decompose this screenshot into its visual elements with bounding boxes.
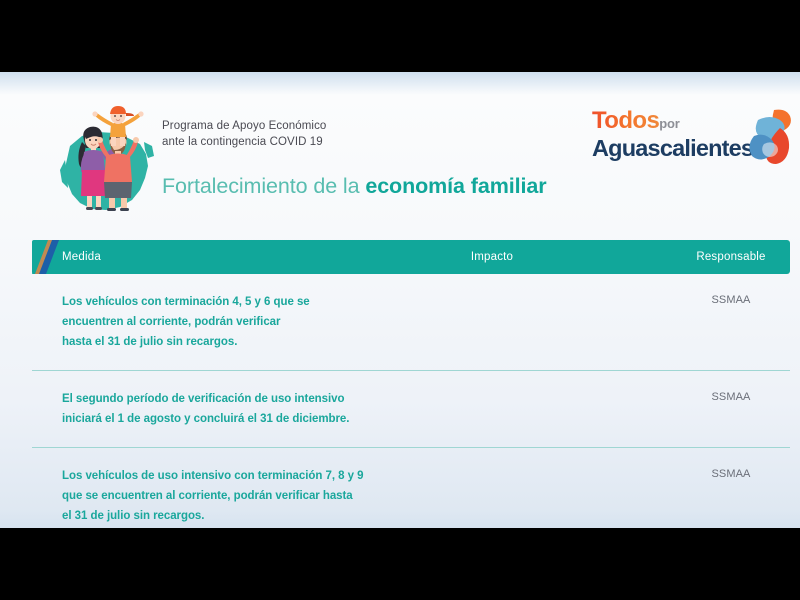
- medida-line: el 31 de julio sin recargos.: [62, 506, 424, 526]
- table-header-row: Medida Impacto Responsable: [32, 240, 790, 274]
- logo-wordmark: Todospor Aguascalientes: [592, 108, 744, 161]
- logo-word-todos: Todos: [592, 107, 659, 134]
- slide-title: Fortalecimiento de la economía familiar: [162, 172, 546, 200]
- logo-swirl-icon: [744, 106, 794, 168]
- logo-line-1: Todospor: [592, 108, 744, 136]
- slide-title-strong: economía familiar: [365, 174, 546, 198]
- cell-impacto: [424, 448, 560, 468]
- slide-title-light: Fortalecimiento de la: [162, 174, 365, 198]
- medida-line: Los vehículos con terminación 4, 5 y 6 q…: [62, 292, 424, 312]
- cell-responsable: SSMAA: [672, 448, 790, 480]
- cell-medida: Los vehículos con terminación 4, 5 y 6 q…: [32, 274, 424, 370]
- cell-responsable: SSMAA: [672, 274, 790, 306]
- presentation-slide: Programa de Apoyo Económico ante la cont…: [0, 72, 800, 528]
- logo-word-aguascalientes: Aguascalientes: [592, 136, 744, 161]
- slide-screenshot: Programa de Apoyo Económico ante la cont…: [0, 0, 800, 600]
- medida-line: iniciará el 1 de agosto y concluirá el 3…: [62, 409, 424, 429]
- column-header-medida: Medida: [62, 240, 101, 274]
- medida-line: Los vehículos de uso intensivo con termi…: [62, 466, 424, 486]
- table-row: El segundo período de verificación de us…: [32, 370, 790, 447]
- header-slash-accent-icon: [32, 240, 62, 274]
- cell-impacto: [424, 371, 560, 391]
- measures-table: Medida Impacto Responsable Los vehículos…: [32, 240, 790, 528]
- program-subtitle-line-1: Programa de Apoyo Económico: [162, 118, 582, 134]
- program-subtitle: Programa de Apoyo Económico ante la cont…: [162, 118, 582, 150]
- logo-word-por: por: [659, 116, 679, 131]
- cell-responsable: SSMAA: [672, 371, 790, 403]
- todos-por-aguascalientes-logo: Todospor Aguascalientes: [592, 108, 792, 170]
- medida-line: encuentren al corriente, podrán verifica…: [62, 312, 424, 332]
- medida-line: El segundo período de verificación de us…: [62, 389, 424, 409]
- column-header-impacto: Impacto: [424, 240, 560, 274]
- cell-medida: Los vehículos de uso intensivo con termi…: [32, 448, 424, 528]
- medida-line: que se encuentren al corriente, podrán v…: [62, 486, 424, 506]
- family-over-state-map-illustration: [48, 102, 166, 214]
- letterbox-bar-top: [0, 0, 800, 72]
- table-row: Los vehículos de uso intensivo con termi…: [32, 447, 790, 528]
- letterbox-bar-bottom: [0, 528, 800, 600]
- table-row: Los vehículos con terminación 4, 5 y 6 q…: [32, 274, 790, 370]
- cell-medida: El segundo período de verificación de us…: [32, 371, 424, 447]
- column-header-responsable: Responsable: [672, 240, 790, 274]
- cell-impacto: [424, 274, 560, 294]
- program-subtitle-line-2: ante la contingencia COVID 19: [162, 134, 582, 150]
- slide-header: Programa de Apoyo Económico ante la cont…: [0, 72, 800, 230]
- medida-line: hasta el 31 de julio sin recargos.: [62, 332, 424, 352]
